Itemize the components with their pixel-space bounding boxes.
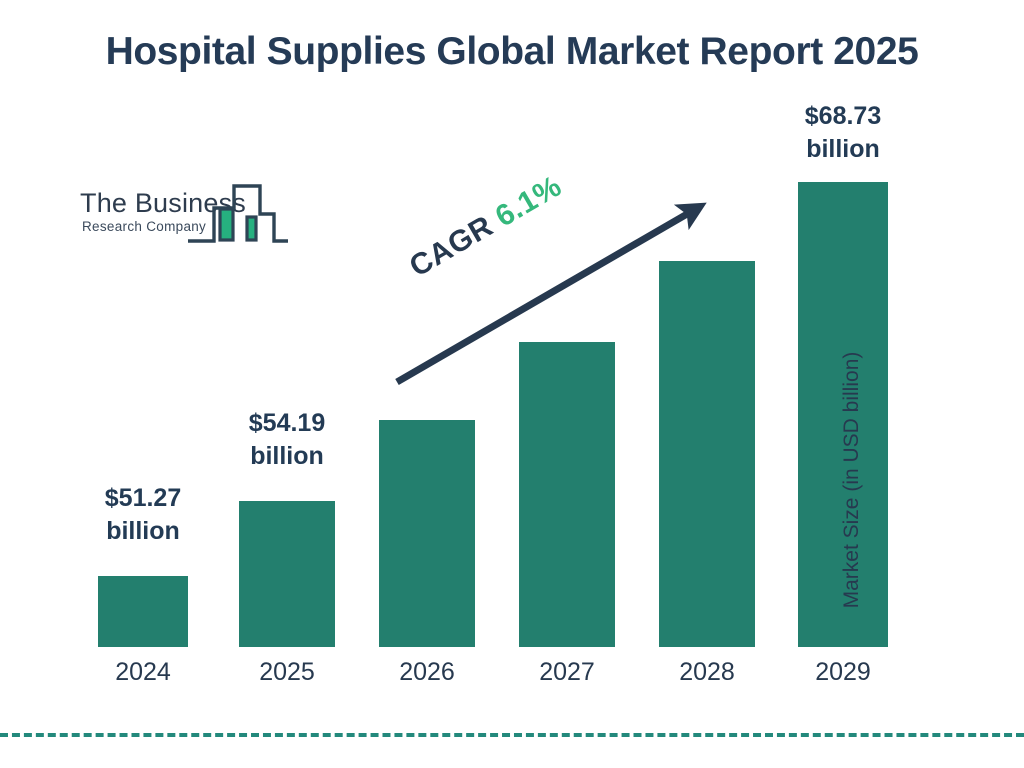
- footer-divider: [0, 733, 1024, 737]
- bar-value-line1: $54.19: [207, 407, 367, 440]
- bar-value-line1: $68.73: [763, 100, 923, 133]
- bar-2028: [659, 261, 755, 647]
- x-axis-tick-2027: 2027: [487, 658, 647, 687]
- x-axis-tick-2025: 2025: [207, 658, 367, 687]
- bar-value-line2: billion: [63, 515, 223, 548]
- bar-2024: [98, 576, 188, 647]
- bar-value-line2: billion: [207, 440, 367, 473]
- bar-2027: [519, 342, 615, 647]
- bar-value-line1: $51.27: [63, 482, 223, 515]
- x-axis-tick-2029: 2029: [763, 658, 923, 687]
- chart-canvas: Hospital Supplies Global Market Report 2…: [0, 0, 1024, 768]
- bar-value-label-2029: $68.73 billion: [763, 100, 923, 166]
- x-axis-tick-2024: 2024: [63, 658, 223, 687]
- bar-value-label-2025: $54.19 billion: [207, 407, 367, 473]
- bar-2025: [239, 501, 335, 647]
- x-axis-tick-2026: 2026: [347, 658, 507, 687]
- bar-2026: [379, 420, 475, 647]
- bar-value-label-2024: $51.27 billion: [63, 482, 223, 548]
- bar-value-line2: billion: [763, 133, 923, 166]
- plot-area: $51.27 billion $54.19 billion $68.73 bil…: [0, 0, 1024, 768]
- y-axis-title: Market Size (in USD billion): [840, 330, 864, 630]
